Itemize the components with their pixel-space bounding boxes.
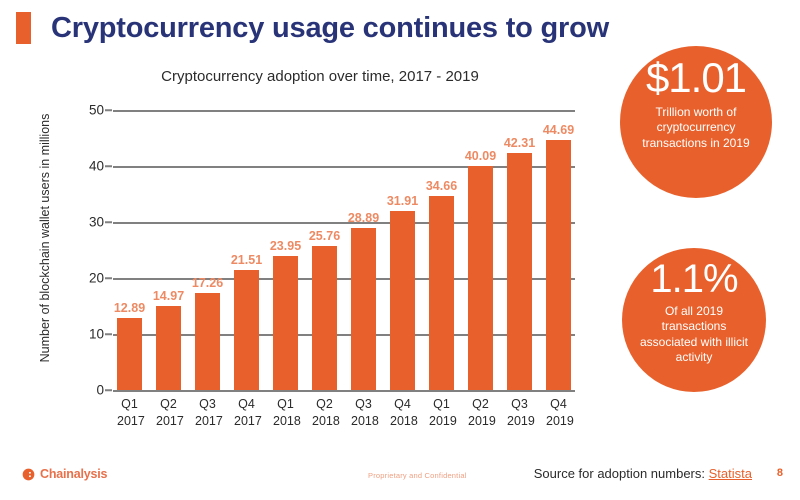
y-tick-label: 0 bbox=[96, 383, 104, 398]
y-tick-mark bbox=[105, 165, 112, 167]
bar-column[interactable]: 28.89 bbox=[351, 110, 376, 390]
bar-value-label: 14.97 bbox=[153, 289, 184, 303]
bar[interactable] bbox=[429, 196, 454, 390]
x-axis-tick-label: Q12018 bbox=[273, 396, 298, 430]
y-tick-mark bbox=[105, 109, 112, 111]
confidentiality-notice: Proprietary and Confidential bbox=[368, 471, 467, 480]
x-label-quarter: Q2 bbox=[468, 396, 493, 413]
x-label-year: 2019 bbox=[468, 413, 493, 430]
y-tick-label: 50 bbox=[89, 103, 104, 118]
x-axis-tick-label: Q22017 bbox=[156, 396, 181, 430]
stat-description: Trillion worth of cryptocurrency transac… bbox=[636, 105, 756, 151]
x-label-quarter: Q1 bbox=[429, 396, 454, 413]
stat-circle-illicit: 1.1% Of all 2019 transactions associated… bbox=[622, 248, 766, 392]
bar-value-label: 23.95 bbox=[270, 239, 301, 253]
bar-column[interactable]: 21.51 bbox=[234, 110, 259, 390]
bar-value-label: 25.76 bbox=[309, 229, 340, 243]
x-axis-tick-label: Q42018 bbox=[390, 396, 415, 430]
bar-column[interactable]: 12.89 bbox=[117, 110, 142, 390]
x-label-quarter: Q1 bbox=[117, 396, 142, 413]
stat-value: 1.1% bbox=[650, 258, 737, 300]
bar[interactable] bbox=[156, 306, 181, 390]
x-label-year: 2018 bbox=[351, 413, 376, 430]
x-label-year: 2018 bbox=[273, 413, 298, 430]
x-label-quarter: Q4 bbox=[546, 396, 571, 413]
bar[interactable] bbox=[312, 246, 337, 390]
x-label-quarter: Q1 bbox=[273, 396, 298, 413]
x-label-year: 2018 bbox=[390, 413, 415, 430]
stat-description: Of all 2019 transactions associated with… bbox=[638, 304, 750, 365]
bar-value-label: 31.91 bbox=[387, 194, 418, 208]
bar-value-label: 21.51 bbox=[231, 253, 262, 267]
bar[interactable] bbox=[351, 228, 376, 390]
x-axis-tick-label: Q22018 bbox=[312, 396, 337, 430]
bar-column[interactable]: 17.26 bbox=[195, 110, 220, 390]
y-tick-label: 10 bbox=[89, 327, 104, 342]
bar-column[interactable]: 40.09 bbox=[468, 110, 493, 390]
x-axis-tick-label: Q22019 bbox=[468, 396, 493, 430]
y-tick-mark bbox=[105, 389, 112, 391]
brand-name: Chainalysis bbox=[40, 467, 107, 481]
bar-value-label: 44.69 bbox=[543, 123, 574, 137]
bar[interactable] bbox=[234, 270, 259, 390]
bar[interactable] bbox=[195, 293, 220, 390]
title-bullet-square bbox=[16, 12, 31, 44]
x-axis-labels: Q12017Q22017Q32017Q42017Q12018Q22018Q320… bbox=[113, 396, 575, 430]
page-title: Cryptocurrency usage continues to grow bbox=[51, 12, 609, 45]
plot-area: 01020304050 12.8914.9717.2621.5123.9525.… bbox=[113, 110, 575, 390]
page-number: 8 bbox=[777, 467, 783, 479]
x-axis-tick-label: Q42017 bbox=[234, 396, 259, 430]
bar[interactable] bbox=[273, 256, 298, 390]
bar-column[interactable]: 31.91 bbox=[390, 110, 415, 390]
x-label-quarter: Q4 bbox=[390, 396, 415, 413]
x-label-quarter: Q3 bbox=[507, 396, 532, 413]
x-label-quarter: Q3 bbox=[351, 396, 376, 413]
source-link-statista[interactable]: Statista bbox=[709, 466, 752, 481]
bar[interactable] bbox=[117, 318, 142, 390]
bar-column[interactable]: 14.97 bbox=[156, 110, 181, 390]
y-tick-mark bbox=[105, 333, 112, 335]
y-tick-mark bbox=[105, 221, 112, 223]
y-tick-label: 30 bbox=[89, 215, 104, 230]
x-label-year: 2017 bbox=[156, 413, 181, 430]
x-label-quarter: Q2 bbox=[312, 396, 337, 413]
x-label-quarter: Q4 bbox=[234, 396, 259, 413]
stat-circle-transactions: $1.01 Trillion worth of cryptocurrency t… bbox=[620, 46, 772, 198]
chart-title: Cryptocurrency adoption over time, 2017 … bbox=[0, 68, 610, 85]
x-label-quarter: Q2 bbox=[156, 396, 181, 413]
x-label-year: 2017 bbox=[117, 413, 142, 430]
x-axis-tick-label: Q12019 bbox=[429, 396, 454, 430]
y-axis-title: Number of blockchain wallet users in mil… bbox=[38, 98, 52, 378]
x-axis-tick-label: Q32017 bbox=[195, 396, 220, 430]
bar-value-label: 34.66 bbox=[426, 179, 457, 193]
slide-footer: Chainalysis Proprietary and Confidential… bbox=[0, 456, 800, 500]
stat-value: $1.01 bbox=[646, 56, 746, 100]
bar[interactable] bbox=[546, 140, 571, 390]
x-label-year: 2019 bbox=[429, 413, 454, 430]
bar-column[interactable]: 23.95 bbox=[273, 110, 298, 390]
y-tick-mark bbox=[105, 277, 112, 279]
x-label-year: 2018 bbox=[312, 413, 337, 430]
chainalysis-logo-icon bbox=[22, 468, 35, 481]
gridline bbox=[113, 390, 575, 392]
bar-series: 12.8914.9717.2621.5123.9525.7628.8931.91… bbox=[113, 110, 575, 390]
source-note: Source for adoption numbers: Statista bbox=[534, 466, 752, 481]
x-label-year: 2017 bbox=[234, 413, 259, 430]
bar-value-label: 28.89 bbox=[348, 211, 379, 225]
bar-chart: Cryptocurrency adoption over time, 2017 … bbox=[0, 56, 610, 446]
y-tick-label: 40 bbox=[89, 159, 104, 174]
bar-column[interactable]: 34.66 bbox=[429, 110, 454, 390]
bar[interactable] bbox=[390, 211, 415, 390]
bar-column[interactable]: 42.31 bbox=[507, 110, 532, 390]
x-label-year: 2017 bbox=[195, 413, 220, 430]
x-axis-tick-label: Q42019 bbox=[546, 396, 571, 430]
bar[interactable] bbox=[468, 166, 493, 391]
bar[interactable] bbox=[507, 153, 532, 390]
x-label-quarter: Q3 bbox=[195, 396, 220, 413]
slide: Cryptocurrency usage continues to grow C… bbox=[0, 0, 800, 500]
bar-column[interactable]: 44.69 bbox=[546, 110, 571, 390]
x-axis-tick-label: Q32018 bbox=[351, 396, 376, 430]
bar-value-label: 12.89 bbox=[114, 301, 145, 315]
bar-value-label: 17.26 bbox=[192, 276, 223, 290]
source-prefix: Source for adoption numbers: bbox=[534, 466, 705, 481]
x-axis-tick-label: Q12017 bbox=[117, 396, 142, 430]
bar-column[interactable]: 25.76 bbox=[312, 110, 337, 390]
x-label-year: 2019 bbox=[507, 413, 532, 430]
bar-value-label: 40.09 bbox=[465, 149, 496, 163]
x-axis-tick-label: Q32019 bbox=[507, 396, 532, 430]
slide-header: Cryptocurrency usage continues to grow bbox=[0, 4, 660, 52]
bar-value-label: 42.31 bbox=[504, 136, 535, 150]
x-label-year: 2019 bbox=[546, 413, 571, 430]
y-tick-label: 20 bbox=[89, 271, 104, 286]
brand-logo: Chainalysis bbox=[22, 467, 107, 481]
